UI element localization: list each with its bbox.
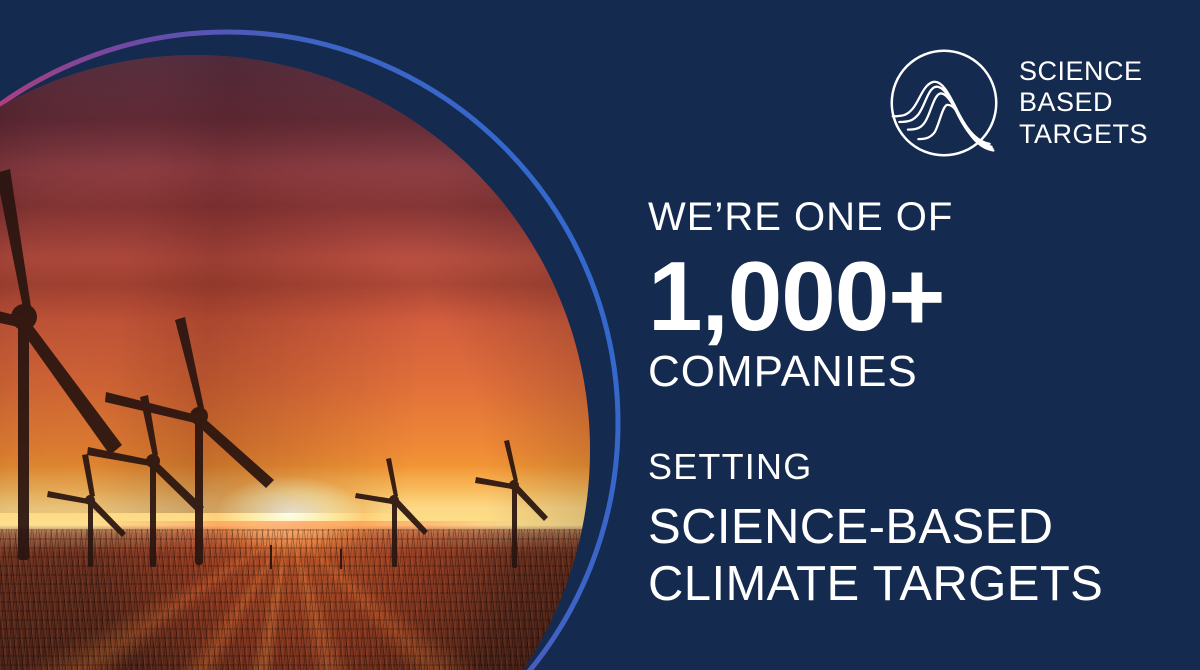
wind-turbines-layer: [0, 55, 590, 670]
statement-block: SETTING SCIENCE-BASED CLIMATE TARGETS: [648, 447, 1168, 612]
turbine-1: [0, 169, 122, 560]
statement-lead: SETTING: [648, 447, 1168, 487]
statement-line-1: SCIENCE-BASED: [648, 499, 1168, 556]
statement-line-2: CLIMATE TARGETS: [648, 556, 1168, 613]
logo-word-line-3: TARGETS: [1019, 119, 1148, 150]
brand-logo-wordmark: SCIENCE BASED TARGETS: [1019, 56, 1148, 150]
turbine-2: [105, 317, 274, 565]
logo-word-line-1: SCIENCE: [1019, 56, 1148, 87]
turbine-4: [47, 454, 126, 567]
turbine-7: [475, 440, 548, 568]
turbine-6: [355, 458, 428, 567]
science-based-targets-wave-circle-icon: [887, 46, 1001, 160]
science-based-targets-card: SCIENCE BASED TARGETS WE’RE ONE OF 1,000…: [0, 0, 1200, 670]
copy-block: WE’RE ONE OF 1,000+ COMPANIES SETTING SC…: [648, 196, 1168, 613]
hero-photo-circle: [0, 55, 590, 670]
headline-figure: 1,000+: [648, 247, 1168, 347]
headline-subject: COMPANIES: [648, 349, 1168, 395]
sunset-wind-farm-photo: [0, 55, 590, 670]
logo-word-line-2: BASED: [1019, 87, 1148, 118]
headline-eyebrow: WE’RE ONE OF: [648, 196, 1168, 239]
brand-logo: SCIENCE BASED TARGETS: [887, 46, 1148, 160]
